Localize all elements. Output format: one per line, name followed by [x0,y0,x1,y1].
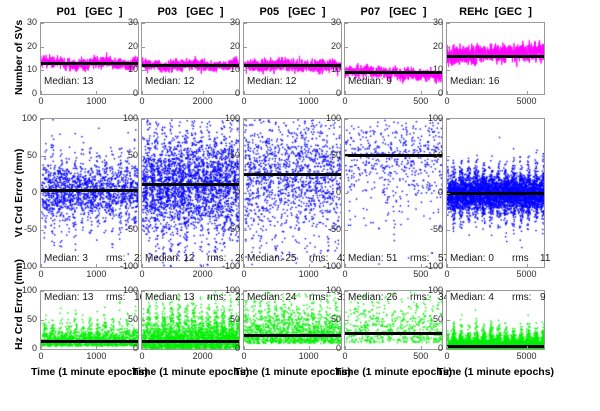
median-label-vert_error-P07: Median: 51 [348,253,397,264]
ytick-vert_error-P05-4: 100 [217,113,240,123]
ytick-num_svs-P03-1: 10 [115,64,138,74]
ytick-num_svs-REHc-2: 20 [420,41,443,51]
ytickmark-num_svs-P05-2 [243,47,247,48]
ytickmark-vert_error-P07-4 [344,119,348,120]
median-label-num_svs-P03: Median: 12 [145,76,194,87]
ytickmark-num_svs-P01-3 [40,23,44,24]
xtickmark-vert_error-P03-0 [142,264,143,268]
xtickmark-vert_error-P05-1 [309,264,310,268]
xtick-vert_error-P01-1: 1000 [74,269,118,279]
ytickmark-num_svs-P05-3 [243,23,247,24]
xtickmark-num_svs-P03-1 [203,91,204,95]
median-label-vert_error-REHc: Median: 0 [450,253,494,264]
xtickmark-horiz_error-P05-0 [244,346,245,350]
xtickmark-horiz_error-P03-1 [203,346,204,350]
xtickmark-vert_error-REHc-1 [527,264,528,268]
xtick-vert_error-P07-0: 0 [323,269,367,279]
ytick-vert_error-P05-1: -50 [217,224,240,234]
xtick-num_svs-P03-0: 0 [120,96,164,106]
xtickmark-horiz_error-P01-1 [96,346,97,350]
y-axis-label-num_svs: Number of SVs [13,22,25,95]
median-label-vert_error-P05: Median: 25 [247,253,296,264]
ytickmark-vert_error-REHc-2 [446,193,450,194]
xtick-vert_error-REHc-0: 0 [425,269,469,279]
median-label-horiz_error-P07: Median: 26 [348,292,397,303]
ytick-vert_error-P03-2: 0 [115,187,138,197]
xtickmark-num_svs-P05-1 [309,91,310,95]
ytick-horiz_error-P01-2: 100 [14,285,37,295]
xtickmark-vert_error-P01-1 [96,264,97,268]
ytick-vert_error-P05-2: 0 [217,187,240,197]
xtickmark-num_svs-P01-0 [41,91,42,95]
median-label-num_svs-P07: Median: 9 [348,76,392,87]
ytick-num_svs-REHc-1: 10 [420,64,443,74]
ytick-num_svs-P01-1: 10 [14,64,37,74]
axes-vert_error-REHc [446,118,545,268]
ytickmark-vert_error-REHc-3 [446,156,450,157]
xtick-horiz_error-P01-0: 0 [19,351,63,361]
ytick-vert_error-P03-4: 100 [115,113,138,123]
ytick-horiz_error-P05-1: 50 [217,314,240,324]
ytick-vert_error-P07-3: 50 [318,150,341,160]
ytickmark-vert_error-P05-2 [243,193,247,194]
median-label-vert_error-P03: Median: 12 [145,253,194,264]
ytick-num_svs-P05-1: 10 [217,64,240,74]
ytickmark-vert_error-REHc-1 [446,230,450,231]
ytick-vert_error-P07-4: 100 [318,113,341,123]
ytick-num_svs-P03-3: 30 [115,17,138,27]
ytickmark-vert_error-P01-4 [40,119,44,120]
median-label-horiz_error-P03: Median: 13 [145,292,194,303]
xtick-horiz_error-REHc-1: 5000 [505,351,549,361]
ytick-horiz_error-P01-1: 50 [14,314,37,324]
xtick-vert_error-P03-0: 0 [120,269,164,279]
ytickmark-vert_error-P05-4 [243,119,247,120]
ytick-horiz_error-P03-1: 50 [115,314,138,324]
ytick-horiz_error-P03-2: 100 [115,285,138,295]
xtick-vert_error-P01-0: 0 [19,269,63,279]
ytick-num_svs-P07-1: 10 [318,64,341,74]
ytick-horiz_error-REHc-2: 100 [420,285,443,295]
xtickmark-vert_error-P01-0 [41,264,42,268]
ytickmark-vert_error-P05-3 [243,156,247,157]
rms-label-horiz_error-REHc: rms: [512,292,531,303]
x-axis-label-REHc: Time (1 minute epochs) [426,366,565,378]
xtickmark-vert_error-REHc-0 [447,264,448,268]
ytickmark-horiz_error-P03-1 [141,320,145,321]
ytickmark-num_svs-P03-1 [141,70,145,71]
ytickmark-vert_error-P01-1 [40,230,44,231]
xtickmark-num_svs-P01-1 [96,91,97,95]
ytickmark-num_svs-REHc-2 [446,47,450,48]
xtickmark-horiz_error-P01-0 [41,346,42,350]
ytickmark-num_svs-P01-1 [40,70,44,71]
median-line-vert_error-P03 [142,183,239,186]
ytick-vert_error-REHc-3: 50 [420,150,443,160]
ytick-vert_error-REHc-1: -50 [420,224,443,234]
ytick-horiz_error-P07-1: 50 [318,314,341,324]
xtick-horiz_error-REHc-0: 0 [425,351,469,361]
xtick-num_svs-REHc-0: 0 [425,96,469,106]
ytickmark-vert_error-P03-3 [141,156,145,157]
ytickmark-num_svs-P05-1 [243,70,247,71]
median-label-horiz_error-P05: Median: 24 [247,292,296,303]
ytick-vert_error-P07-1: -50 [318,224,341,234]
ytick-num_svs-P05-2: 20 [217,41,240,51]
ytick-vert_error-P01-1: -50 [14,224,37,234]
median-line-num_svs-REHc [447,55,544,58]
xtick-horiz_error-P03-0: 0 [120,351,164,361]
ytick-num_svs-REHc-3: 30 [420,17,443,27]
ytick-vert_error-P01-4: 100 [14,113,37,123]
xtickmark-num_svs-P05-0 [244,91,245,95]
rms-value-horiz_error-REHc: 9 [540,292,546,303]
xtick-horiz_error-P07-0: 0 [323,351,367,361]
ytickmark-vert_error-P03-2 [141,193,145,194]
ytickmark-vert_error-P03-1 [141,230,145,231]
ytickmark-num_svs-P07-3 [344,23,348,24]
median-label-num_svs-REHc: Median: 16 [450,76,499,87]
plot-area-vert_error-REHc [447,119,544,267]
median-line-horiz_error-REHc [447,345,544,348]
ytickmark-horiz_error-P07-1 [344,320,348,321]
xtick-num_svs-P07-0: 0 [323,96,367,106]
ytickmark-horiz_error-P05-1 [243,320,247,321]
xtickmark-horiz_error-REHc-0 [447,346,448,350]
ytick-vert_error-P05-3: 50 [217,150,240,160]
median-line-horiz_error-P07 [345,332,442,335]
ytick-vert_error-P07-2: 0 [318,187,341,197]
xtickmark-vert_error-P05-0 [244,264,245,268]
gnss-quality-figure: Number of SVsP01 [GEC ]010203001000Media… [0,0,600,411]
median-line-vert_error-REHc [447,192,544,195]
ytick-num_svs-P03-2: 20 [115,41,138,51]
ytickmark-num_svs-REHc-1 [446,70,450,71]
median-label-horiz_error-REHc: Median: 4 [450,292,494,303]
ytickmark-num_svs-REHc-3 [446,23,450,24]
xtick-horiz_error-P01-1: 1000 [74,351,118,361]
ytickmark-vert_error-P07-3 [344,156,348,157]
xtickmark-horiz_error-P03-0 [142,346,143,350]
xtickmark-horiz_error-P05-1 [309,346,310,350]
xtick-vert_error-P05-0: 0 [222,269,266,279]
median-label-num_svs-P01: Median: 13 [44,76,93,87]
xtickmark-horiz_error-REHc-1 [527,346,528,350]
xtickmark-vert_error-P03-1 [203,264,204,268]
ytick-num_svs-P07-3: 30 [318,17,341,27]
ytickmark-num_svs-P07-2 [344,47,348,48]
median-line-vert_error-P05 [244,173,341,176]
rms-value-vert_error-REHc: 11 [540,253,550,264]
xtick-vert_error-REHc-1: 5000 [505,269,549,279]
median-label-num_svs-P05: Median: 12 [247,76,296,87]
xtick-horiz_error-P05-0: 0 [222,351,266,361]
xtick-num_svs-P01-0: 0 [19,96,63,106]
ytickmark-num_svs-P01-2 [40,47,44,48]
median-label-horiz_error-P01: Median: 13 [44,292,93,303]
ytickmark-vert_error-P01-2 [40,193,44,194]
median-line-horiz_error-P05 [244,334,341,337]
ytick-vert_error-P03-3: 50 [115,150,138,160]
ytick-vert_error-P01-3: 50 [14,150,37,160]
ytickmark-horiz_error-P01-1 [40,320,44,321]
xtickmark-num_svs-P03-0 [142,91,143,95]
ytick-vert_error-REHc-4: 100 [420,113,443,123]
ytickmark-vert_error-P07-1 [344,230,348,231]
ytickmark-vert_error-P03-4 [141,119,145,120]
ytick-num_svs-P07-2: 20 [318,41,341,51]
ytick-horiz_error-P05-2: 100 [217,285,240,295]
ytickmark-num_svs-P07-1 [344,70,348,71]
xtickmark-num_svs-REHc-0 [447,91,448,95]
ytickmark-num_svs-P03-2 [141,47,145,48]
ytick-vert_error-REHc-2: 0 [420,187,443,197]
ytickmark-vert_error-P01-3 [40,156,44,157]
xtickmark-vert_error-P07-0 [345,264,346,268]
ytick-num_svs-P01-3: 30 [14,17,37,27]
ytickmark-vert_error-REHc-4 [446,119,450,120]
median-label-vert_error-P01: Median: 3 [44,253,88,264]
panel-title-REHc: REHc [GEC ] [438,6,553,18]
ytickmark-horiz_error-REHc-1 [446,320,450,321]
ytick-num_svs-P01-2: 20 [14,41,37,51]
ytick-num_svs-P05-3: 30 [217,17,240,27]
ytick-horiz_error-REHc-1: 50 [420,314,443,324]
xtickmark-num_svs-REHc-1 [527,91,528,95]
xtickmark-num_svs-P07-0 [345,91,346,95]
ytick-vert_error-P01-2: 0 [14,187,37,197]
ytick-horiz_error-P07-2: 100 [318,285,341,295]
xtickmark-horiz_error-P07-0 [345,346,346,350]
ytickmark-vert_error-P07-2 [344,193,348,194]
xtick-num_svs-REHc-1: 5000 [505,96,549,106]
ytickmark-vert_error-P05-1 [243,230,247,231]
xtick-num_svs-P05-0: 0 [222,96,266,106]
ytick-vert_error-P03-1: -50 [115,224,138,234]
ytickmark-num_svs-P03-3 [141,23,145,24]
xtick-num_svs-P01-1: 1000 [74,96,118,106]
rms-label-vert_error-REHc: rms [512,253,529,264]
